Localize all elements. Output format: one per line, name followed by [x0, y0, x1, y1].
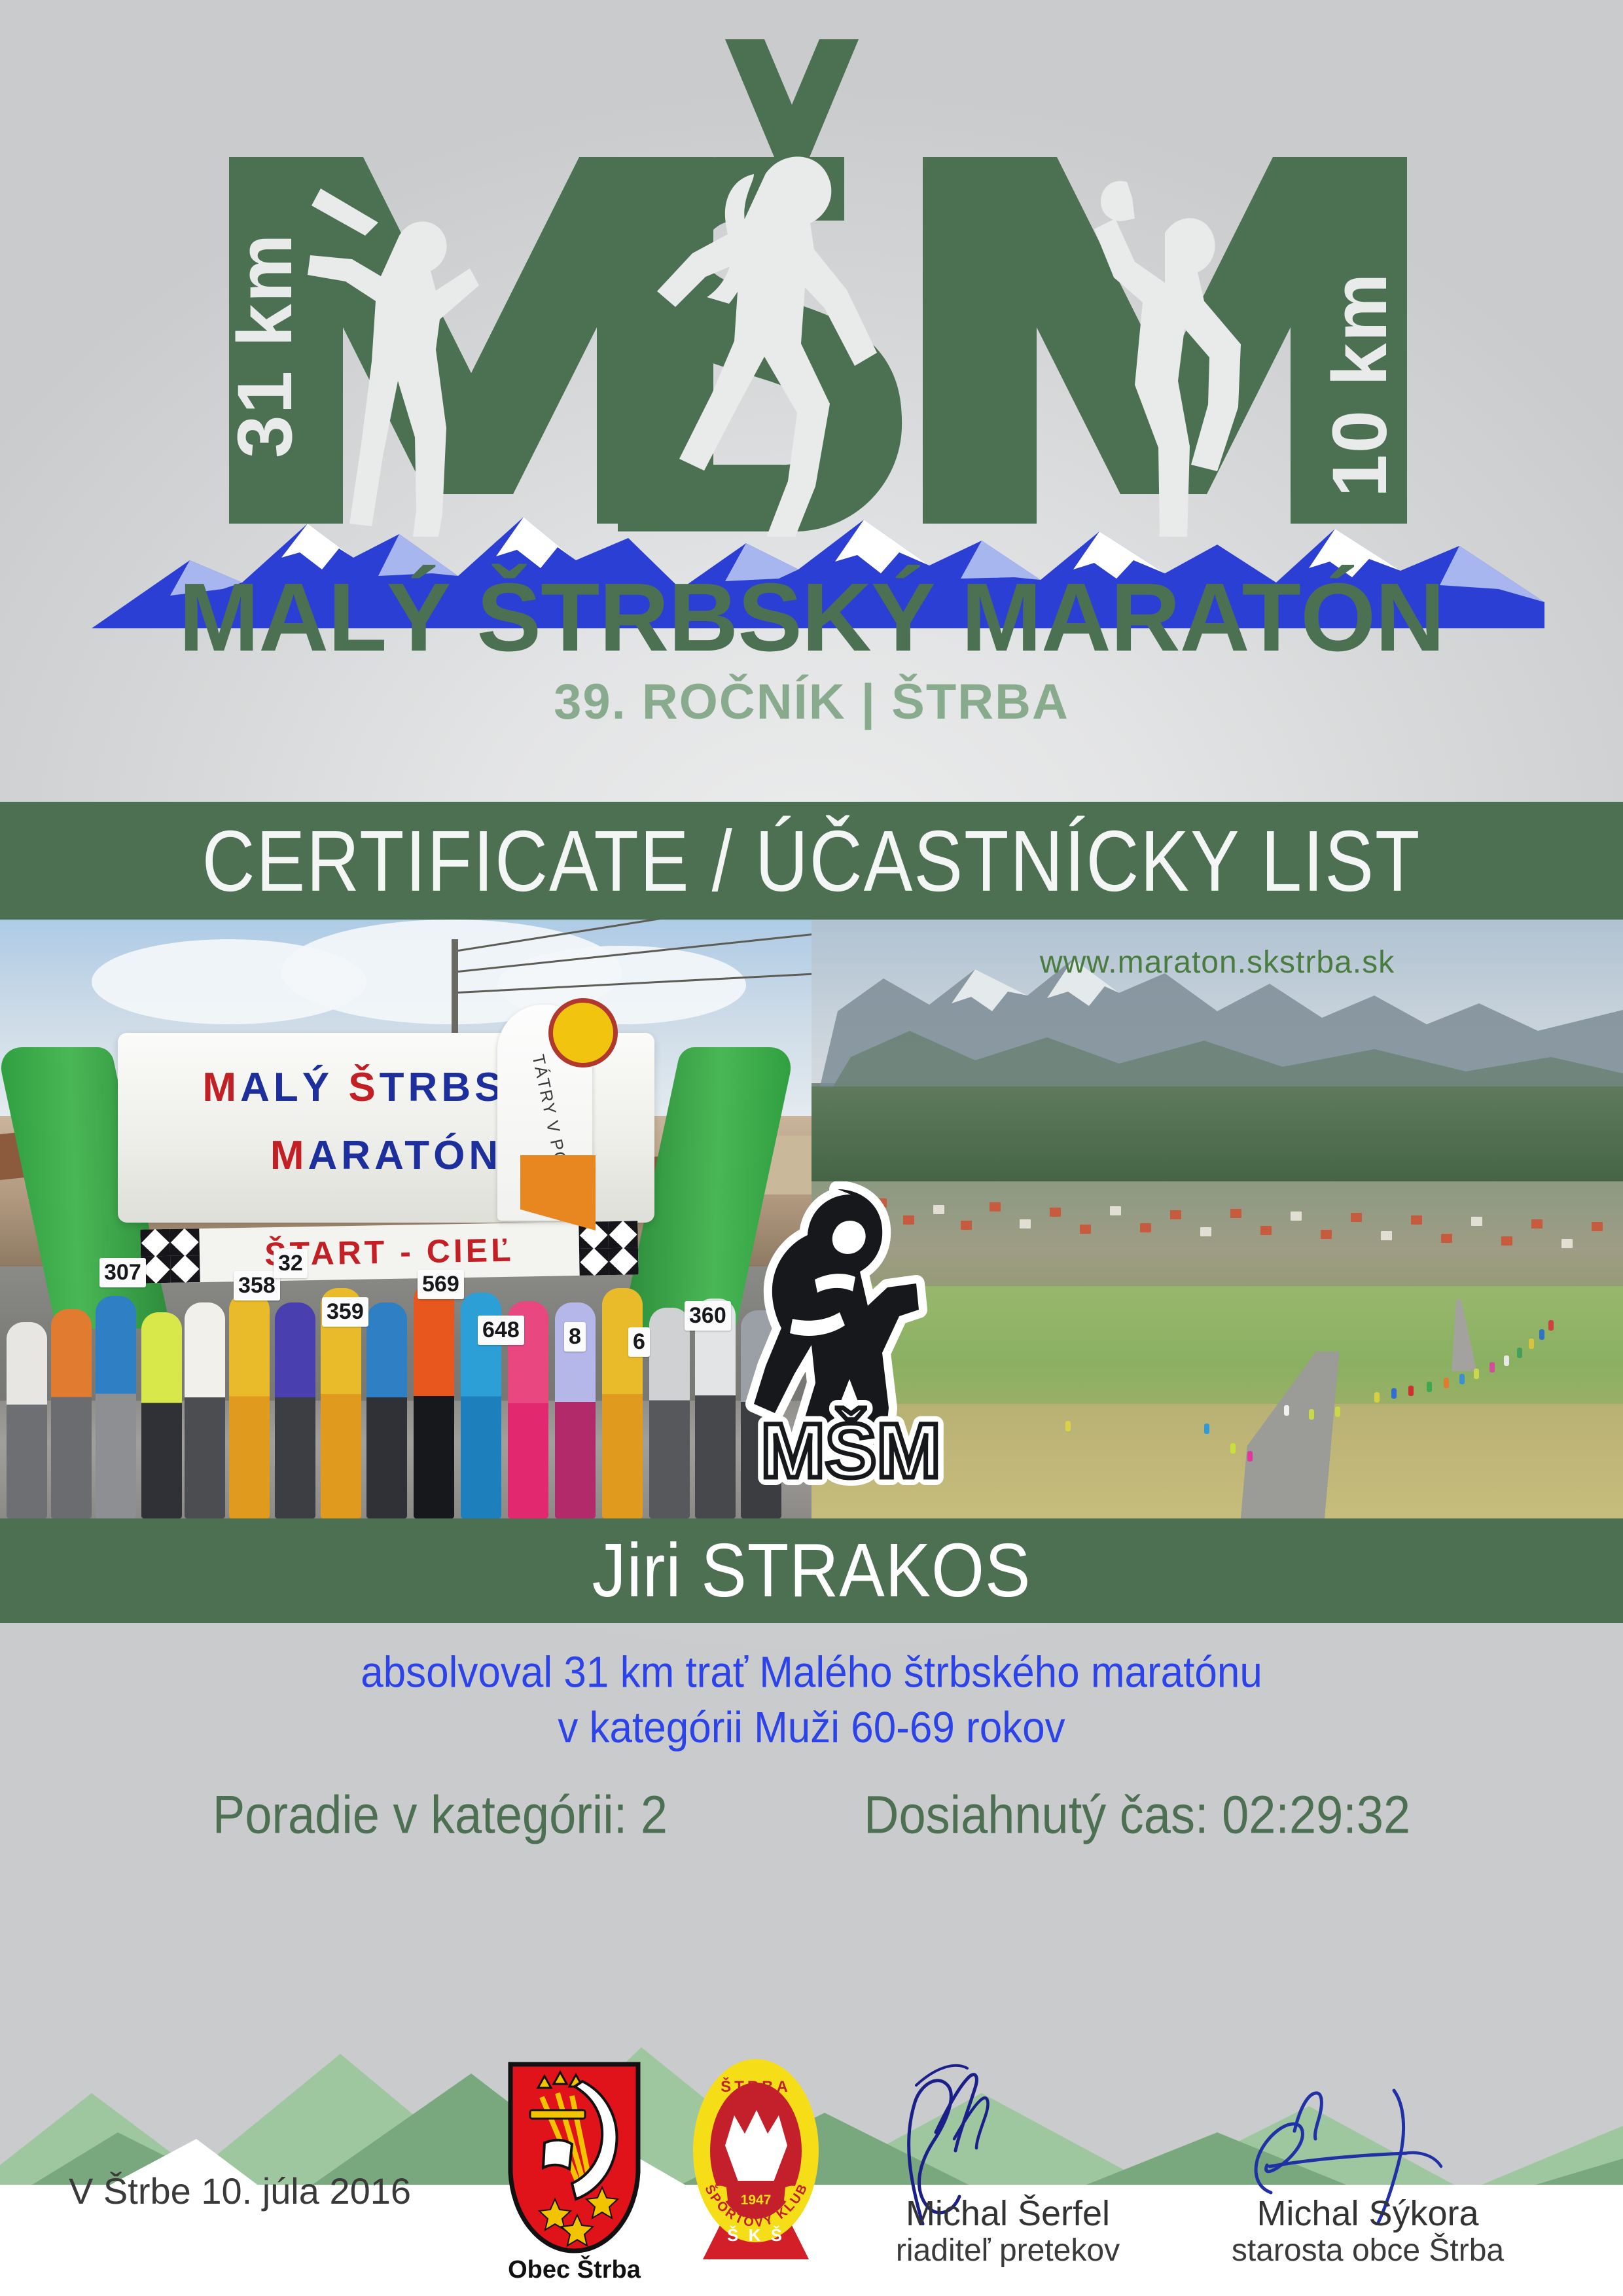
bib-number: 307 — [99, 1258, 146, 1287]
event-title: MALÝ ŠTRBSKÝ MARATÓN — [0, 569, 1623, 666]
crest-label: Obec Štrba — [504, 2256, 645, 2284]
certificate-banner-title: CERTIFICATE / ÚČASTNÍCKY LIST — [202, 811, 1421, 910]
runner — [366, 1302, 407, 1518]
bib-number: 359 — [322, 1297, 368, 1327]
logo-block: 31 km 10 km — [0, 0, 1623, 792]
runner-dot — [1517, 1348, 1522, 1358]
sponsor-emblem-icon — [548, 998, 618, 1067]
bib-number: 32 — [274, 1249, 308, 1278]
runner — [649, 1308, 690, 1518]
bib-number: 648 — [478, 1316, 524, 1345]
results-row: Poradie v kategórii: 2 Dosiahnutý čas: 0… — [0, 1784, 1623, 1846]
runner-dot — [1474, 1369, 1479, 1379]
signature-block-sykora: Michal Sýkora starosta obce Štrba — [1198, 2195, 1538, 2270]
signature-role: starosta obce Štrba — [1198, 2232, 1538, 2270]
finish-time: Dosiahnutý čas: 02:29:32 — [864, 1784, 1410, 1846]
runner-dot — [1529, 1338, 1534, 1349]
runner-dot — [1489, 1362, 1495, 1372]
msm-runner-sticker-icon: MŠM MŠM — [736, 1181, 965, 1489]
runner-dot — [1309, 1409, 1314, 1420]
bib-number: 569 — [418, 1270, 464, 1299]
description-line-1: absolvoval 31 km trať Malého štrbského m… — [0, 1645, 1623, 1700]
inflatable-start-arch: MALÝ ŠTRBSKÝ MARATÓN ŠTART - CIEĽ — [26, 1014, 746, 1250]
signature-name: Michal Sýkora — [1198, 2195, 1538, 2233]
website-url: www.maraton.skstrba.sk — [811, 944, 1623, 980]
bib-number: 360 — [685, 1301, 731, 1331]
svg-text:10 km: 10 km — [1317, 272, 1403, 497]
bib-number: 6 — [628, 1327, 650, 1357]
runner-dot — [1391, 1388, 1397, 1399]
runner-dot — [1459, 1374, 1465, 1384]
svg-text:31 km: 31 km — [222, 232, 308, 458]
issue-date: V Štrbe 10. júla 2016 — [69, 2170, 411, 2212]
spectator-dot — [1065, 1421, 1071, 1431]
certificate-banner: CERTIFICATE / ÚČASTNÍCKY LIST — [0, 802, 1623, 920]
msm-sticker-text: MŠM — [760, 1407, 940, 1489]
participant-name: Jiri STRAKOS — [592, 1527, 1031, 1614]
signature-block-serfel: Michal Šerfel riaditeľ pretekov — [838, 2195, 1178, 2270]
runner-dot — [1444, 1378, 1449, 1388]
bib-number: 8 — [564, 1322, 586, 1352]
runner-dot — [1204, 1424, 1209, 1434]
runner — [414, 1283, 454, 1518]
runner-dot — [1284, 1405, 1289, 1416]
msm-logo: 31 km 10 km — [190, 39, 1433, 537]
certificate-page: 31 km 10 km — [0, 0, 1623, 2296]
description-line-2: v kategórii Muži 60-69 rokov — [0, 1700, 1623, 1755]
event-title-text: MALÝ ŠTRBSKÝ MARATÓN — [179, 564, 1444, 672]
runner — [96, 1296, 136, 1518]
msm-wordmark-icon: 31 km 10 km — [190, 39, 1433, 537]
participant-description: absolvoval 31 km trať Malého štrbského m… — [0, 1645, 1623, 1755]
runner-crowd: 307 358 32 359 569 648 8 6 360 — [0, 1217, 811, 1518]
runner — [7, 1322, 47, 1518]
sponsor-flag-text: TÁTRY V POH — [527, 1052, 561, 1121]
signature-role: riaditeľ pretekov — [838, 2232, 1178, 2270]
runner-dot — [1335, 1407, 1340, 1417]
obec-strba-crest-icon — [504, 2059, 645, 2255]
footer: V Štrbe 10. júla 2016 Obec Štrba — [0, 1988, 1623, 2296]
runner — [185, 1302, 225, 1518]
runner-dot — [1374, 1392, 1380, 1403]
runner-dot — [1408, 1386, 1414, 1396]
runner — [229, 1293, 270, 1518]
runner-dot — [1548, 1320, 1554, 1331]
runner-dot — [1230, 1443, 1236, 1454]
runner — [602, 1288, 643, 1518]
sks-strba-club-emblem-icon: ŠTRBA 1947 Š K Š ŠPORTOVÝ KLUB — [681, 2053, 831, 2262]
runner — [275, 1302, 315, 1518]
photo-start-line: MALÝ ŠTRBSKÝ MARATÓN ŠTART - CIEĽ TÁTRY … — [0, 920, 811, 1518]
signature-name: Michal Šerfel — [838, 2195, 1178, 2233]
runner-dot — [1504, 1355, 1509, 1366]
sks-year: 1947 — [741, 2193, 772, 2208]
participant-name-banner: Jiri STRAKOS — [0, 1518, 1623, 1623]
runner-dot — [1427, 1382, 1432, 1392]
runner-dot — [1247, 1451, 1253, 1462]
runner — [141, 1312, 182, 1518]
category-rank: Poradie v kategórii: 2 — [213, 1784, 668, 1846]
runner-dot — [1539, 1329, 1544, 1340]
sks-top-text: ŠTRBA — [721, 2077, 791, 2096]
runner — [695, 1299, 736, 1518]
event-subtitle: 39. ROČNÍK | ŠTRBA — [0, 677, 1623, 727]
runner — [51, 1309, 92, 1518]
